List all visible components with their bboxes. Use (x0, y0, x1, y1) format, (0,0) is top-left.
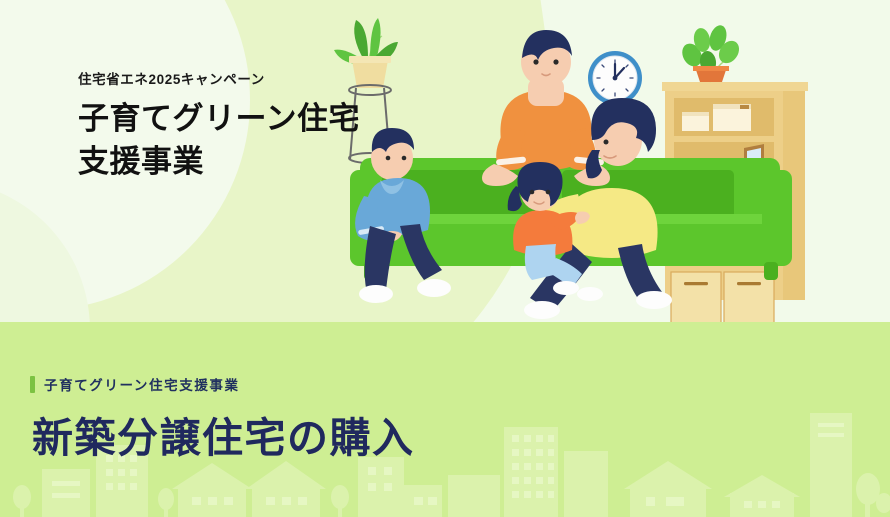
page-title: 新築分譲住宅の購入 (32, 416, 890, 461)
banner-content: 子育てグリーン住宅支援事業 新築分譲住宅の購入 (0, 322, 890, 461)
eyebrow-accent-bar (30, 376, 35, 393)
family-illustration (330, 0, 890, 322)
cabinet-handle-left (684, 282, 708, 285)
page-root: 住宅省エネ2025キャンペーン 子育てグリーン住宅 支援事業 (0, 0, 890, 517)
hero-text-block: 住宅省エネ2025キャンペーン 子育てグリーン住宅 支援事業 (78, 68, 360, 184)
eyebrow-label: 子育てグリーン住宅支援事業 (44, 374, 240, 394)
shelf-top-plant (678, 23, 743, 82)
hero-title: 子育てグリーン住宅 支援事業 (78, 98, 360, 184)
campaign-kicker: 住宅省エネ2025キャンペーン (78, 68, 360, 88)
banner-eyebrow: 子育てグリーン住宅支援事業 (30, 374, 890, 394)
cabinet-handle-right (737, 282, 761, 285)
hero-section: 住宅省エネ2025キャンペーン 子育てグリーン住宅 支援事業 (0, 0, 890, 322)
wall-clock-icon (588, 51, 642, 105)
page-banner: 子育てグリーン住宅支援事業 新築分譲住宅の購入 (0, 322, 890, 517)
